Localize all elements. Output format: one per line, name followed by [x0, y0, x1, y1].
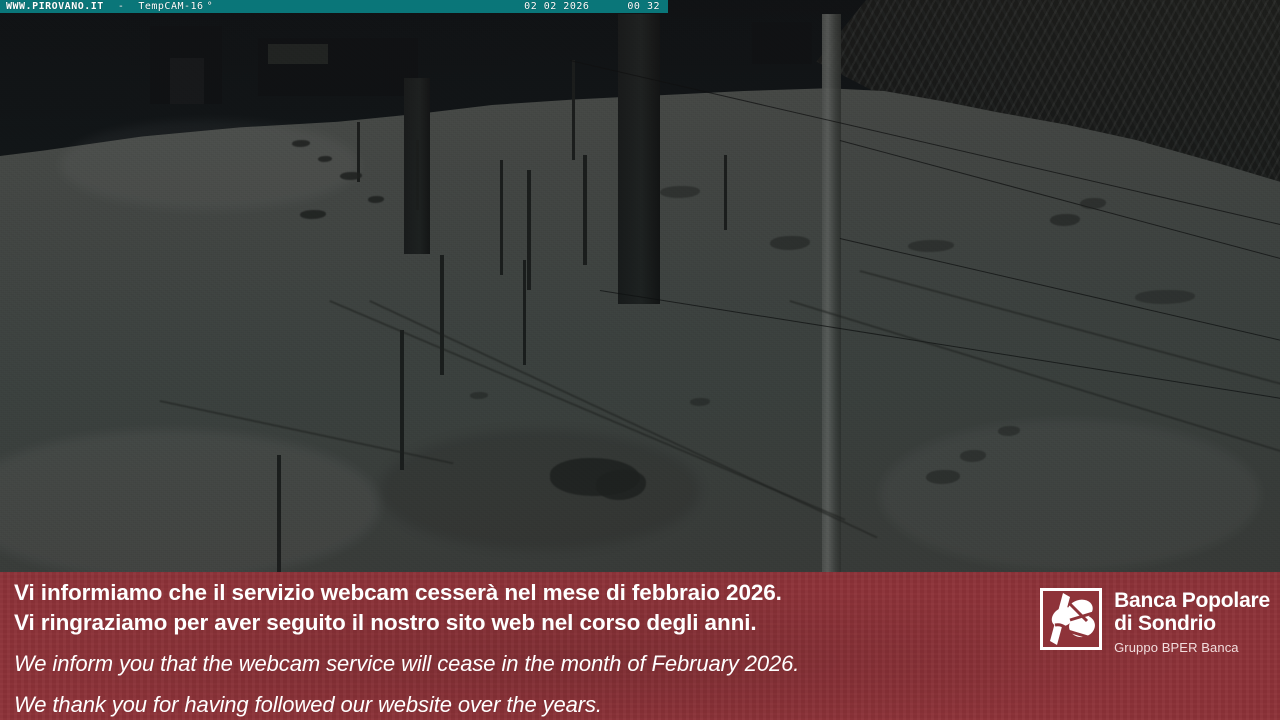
slope-marker-pole — [400, 330, 404, 470]
degree-icon: ° — [204, 1, 214, 12]
slope-marker-pole — [527, 170, 531, 290]
slope-marker-pole — [724, 155, 727, 230]
sponsor-name-line-1: Banca Popolare — [1114, 589, 1270, 612]
slope-marker-pole — [416, 140, 419, 210]
slope-marker-pole — [440, 255, 444, 375]
slope-marker-pole — [572, 60, 575, 160]
sponsor-logo[interactable]: Banca Popolare di Sondrio Gruppo BPER Ba… — [1040, 588, 1270, 656]
notice-english-line-1: We inform you that the webcam service wi… — [14, 649, 1024, 679]
notice-italian-line-1: Vi informiamo che il servizio webcam ces… — [14, 578, 1024, 608]
snow-shadow — [380, 430, 700, 550]
notice-italian-line-2: Vi ringraziamo per aver seguito il nostr… — [14, 608, 1024, 638]
lift-pole — [822, 14, 841, 576]
osd-site-url: WWW.PIROVANO.IT — [0, 1, 104, 12]
osd-time: 00 32 — [589, 1, 668, 12]
service-notice-banner: Vi informiamo che il servizio webcam ces… — [0, 572, 1280, 720]
osd-sensor-label: TempCAM-16 — [138, 1, 203, 12]
slope-marker-pole — [500, 160, 503, 275]
ridge-silhouette — [170, 58, 204, 104]
osd-separator: - — [104, 1, 139, 12]
webcam-page: WWW.PIROVANO.IT - TempCAM-16 ° 02 02 202… — [0, 0, 1280, 720]
slope-marker-pole — [277, 455, 281, 573]
webcam-osd-bar: WWW.PIROVANO.IT - TempCAM-16 ° 02 02 202… — [0, 0, 668, 13]
bps-monogram-icon — [1040, 588, 1102, 650]
ridge-silhouette — [268, 44, 328, 64]
sponsor-wordmark: Banca Popolare di Sondrio Gruppo BPER Ba… — [1114, 588, 1270, 656]
osd-date: 02 02 2026 — [524, 1, 589, 12]
sponsor-group-label: Gruppo BPER Banca — [1114, 640, 1270, 656]
notice-english-line-2: We thank you for having followed our web… — [14, 690, 1024, 720]
snow-shadow — [60, 120, 360, 210]
lift-pylon — [618, 14, 660, 304]
snow-shadow — [880, 420, 1260, 570]
slope-marker-pole — [523, 260, 526, 365]
notice-text-block: Vi informiamo che il servizio webcam ces… — [14, 578, 1024, 720]
sponsor-name-line-2: di Sondrio — [1114, 612, 1270, 635]
slope-marker-pole — [583, 155, 587, 265]
ridge-silhouette — [752, 22, 812, 64]
